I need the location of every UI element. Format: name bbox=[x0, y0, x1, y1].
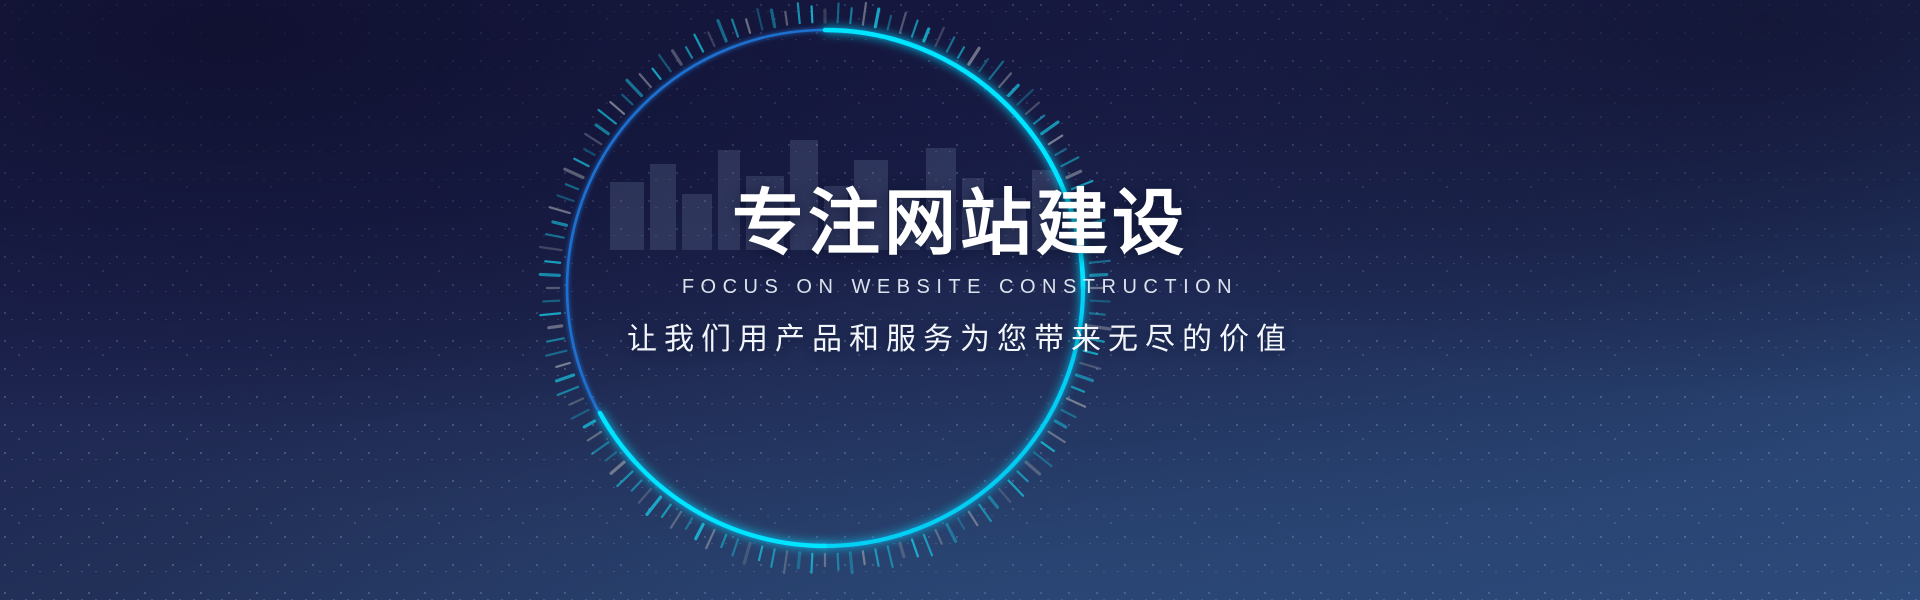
tick-mark bbox=[1084, 220, 1104, 225]
tick-mark bbox=[686, 518, 692, 528]
tagline: 让我们用产品和服务为您带来无尽的价值 bbox=[0, 321, 1920, 359]
tick-mark bbox=[936, 28, 944, 46]
subtitle-english: FOCUS ON WEBSITE CONSTRUCTION bbox=[0, 275, 1920, 299]
tick-mark bbox=[784, 551, 787, 573]
tick-mark bbox=[1072, 387, 1084, 392]
tick-mark bbox=[708, 32, 714, 46]
tick-mark bbox=[1042, 122, 1058, 134]
tick-mark bbox=[850, 8, 851, 23]
tick-mark bbox=[706, 530, 714, 548]
tick-mark bbox=[785, 12, 787, 25]
tick-mark bbox=[632, 481, 642, 491]
page-title: 专注网站建设 bbox=[0, 183, 1920, 263]
tick-mark bbox=[757, 9, 762, 29]
tick-mark bbox=[540, 313, 560, 315]
dial-graphic bbox=[0, 0, 1920, 600]
tick-mark bbox=[1088, 248, 1101, 250]
tick-mark bbox=[659, 55, 671, 71]
tick-mark bbox=[546, 351, 566, 356]
tick-mark bbox=[875, 9, 878, 27]
tick-mark bbox=[662, 505, 671, 517]
tick-mark bbox=[1090, 261, 1110, 263]
tick-mark bbox=[1026, 103, 1039, 114]
tick-mark bbox=[1034, 116, 1044, 124]
tick-mark bbox=[606, 452, 616, 460]
tick-mark bbox=[585, 134, 601, 144]
tick-mark bbox=[798, 553, 799, 568]
tick-mark bbox=[947, 37, 954, 51]
tick-mark bbox=[900, 543, 904, 556]
tick-mark bbox=[547, 338, 564, 341]
tick-mark bbox=[545, 261, 560, 262]
tick-mark bbox=[812, 6, 813, 22]
tick-mark bbox=[572, 410, 589, 419]
hero-banner: 专注网站建设 FOCUS ON WEBSITE CONSTRUCTION 让我们… bbox=[0, 0, 1920, 600]
tick-mark bbox=[584, 149, 594, 155]
tick-mark bbox=[798, 3, 800, 23]
tick-mark bbox=[653, 69, 661, 79]
tick-mark bbox=[979, 505, 991, 521]
tick-mark bbox=[1018, 472, 1028, 482]
tick-mark bbox=[732, 539, 738, 555]
tick-mark bbox=[936, 530, 942, 544]
tick-mark bbox=[1049, 432, 1065, 442]
tick-mark bbox=[647, 497, 661, 514]
tick-mark bbox=[1026, 462, 1040, 474]
tick-mark bbox=[958, 47, 964, 57]
tick-mark bbox=[912, 539, 918, 556]
tick-mark bbox=[569, 399, 583, 405]
tick-mark bbox=[1080, 363, 1100, 369]
dial-ring bbox=[567, 30, 1083, 546]
tick-mark bbox=[912, 21, 918, 37]
tick-mark bbox=[1034, 452, 1051, 466]
tick-mark bbox=[617, 472, 632, 486]
tick-mark bbox=[1067, 399, 1085, 407]
tick-mark bbox=[732, 20, 738, 37]
tick-mark bbox=[557, 375, 574, 381]
tick-mark bbox=[640, 74, 651, 87]
tick-mark bbox=[1018, 90, 1033, 104]
tick-mark bbox=[1009, 85, 1019, 95]
tick-mark bbox=[1088, 326, 1110, 329]
tick-mark bbox=[771, 10, 774, 27]
tick-mark bbox=[1055, 149, 1065, 155]
tick-mark bbox=[639, 489, 651, 503]
dot-lattice-background bbox=[0, 0, 1920, 600]
tick-mark bbox=[696, 524, 703, 538]
progress-arc-top bbox=[825, 30, 1083, 288]
tick-mark bbox=[540, 247, 562, 250]
city-skyline-silhouette bbox=[600, 120, 1070, 250]
tick-mark bbox=[838, 554, 839, 570]
tick-mark bbox=[1009, 481, 1023, 496]
tick-mark bbox=[550, 207, 570, 213]
tick-mark bbox=[969, 512, 978, 525]
tick-mark bbox=[671, 512, 681, 528]
tick-mark bbox=[1049, 136, 1062, 145]
tick-mark bbox=[1067, 171, 1081, 177]
tick-mark bbox=[574, 159, 588, 166]
hero-copy: 专注网站建设 FOCUS ON WEBSITE CONSTRUCTION 让我们… bbox=[0, 183, 1920, 359]
tick-mark bbox=[1084, 351, 1098, 354]
tick-mark bbox=[1042, 442, 1054, 451]
tick-mark bbox=[999, 73, 1011, 87]
dot-lattice-fine bbox=[0, 0, 1920, 600]
tick-mark bbox=[989, 497, 997, 507]
tick-mark bbox=[924, 535, 932, 555]
tick-mark bbox=[546, 234, 564, 237]
tick-mark bbox=[744, 543, 750, 563]
tick-mark bbox=[1061, 157, 1078, 166]
tick-mark bbox=[850, 553, 852, 573]
vignette-overlay bbox=[0, 0, 1920, 600]
tick-mark bbox=[673, 51, 682, 64]
tick-mark bbox=[1076, 375, 1092, 381]
tick-mark bbox=[622, 95, 632, 105]
tick-mark bbox=[771, 549, 774, 567]
tick-mark bbox=[900, 13, 906, 33]
tick-mark bbox=[611, 462, 624, 473]
tick-mark bbox=[999, 489, 1010, 502]
tick-mark bbox=[863, 3, 866, 25]
tick-mark bbox=[1080, 209, 1093, 213]
tick-mark bbox=[979, 59, 988, 71]
tick-mark bbox=[888, 16, 891, 30]
tick-mark bbox=[565, 169, 583, 177]
tick-mark bbox=[686, 47, 692, 57]
tick-mark bbox=[1086, 338, 1104, 341]
tick-mark bbox=[549, 326, 562, 328]
tick-mark bbox=[811, 554, 812, 573]
tick-mark bbox=[1061, 410, 1075, 417]
tick-mark bbox=[584, 421, 594, 427]
tick-mark bbox=[1055, 421, 1065, 427]
tick-mark bbox=[596, 125, 608, 134]
tick-mark bbox=[558, 387, 578, 395]
progress-arc-bottom-left bbox=[600, 413, 825, 546]
tick-mark bbox=[543, 301, 559, 302]
tick-mark bbox=[540, 274, 559, 275]
tick-mark bbox=[558, 195, 574, 201]
tick-mark bbox=[553, 222, 567, 225]
tick-mark bbox=[888, 547, 893, 567]
tick-mark bbox=[599, 110, 616, 124]
tick-mark bbox=[947, 524, 956, 541]
tick-mark bbox=[1091, 301, 1110, 302]
tick-mark bbox=[694, 35, 703, 52]
progress-arc-right bbox=[825, 288, 1083, 546]
tick-mark bbox=[875, 549, 878, 566]
tick-mark bbox=[958, 518, 964, 528]
tick-mark bbox=[838, 3, 839, 22]
tick-mark bbox=[1086, 234, 1103, 237]
tick-mark bbox=[863, 551, 865, 564]
tick-mark bbox=[592, 442, 608, 454]
tick-mark bbox=[1091, 275, 1107, 276]
tick-mark bbox=[924, 29, 929, 41]
tick-mark bbox=[566, 184, 578, 189]
tick-mark bbox=[1076, 195, 1093, 201]
tick-mark bbox=[627, 80, 641, 95]
radial-tick-marks bbox=[540, 3, 1110, 573]
tick-mark bbox=[610, 102, 624, 114]
tick-mark bbox=[556, 363, 569, 367]
tick-mark bbox=[759, 547, 762, 561]
tick-mark bbox=[969, 48, 979, 64]
tick-mark bbox=[1072, 181, 1092, 189]
tick-mark bbox=[989, 62, 1003, 79]
tick-mark bbox=[746, 19, 750, 32]
tick-mark bbox=[721, 535, 726, 547]
tick-mark bbox=[588, 432, 601, 441]
tick-mark bbox=[718, 21, 726, 41]
tick-mark bbox=[1090, 313, 1105, 314]
